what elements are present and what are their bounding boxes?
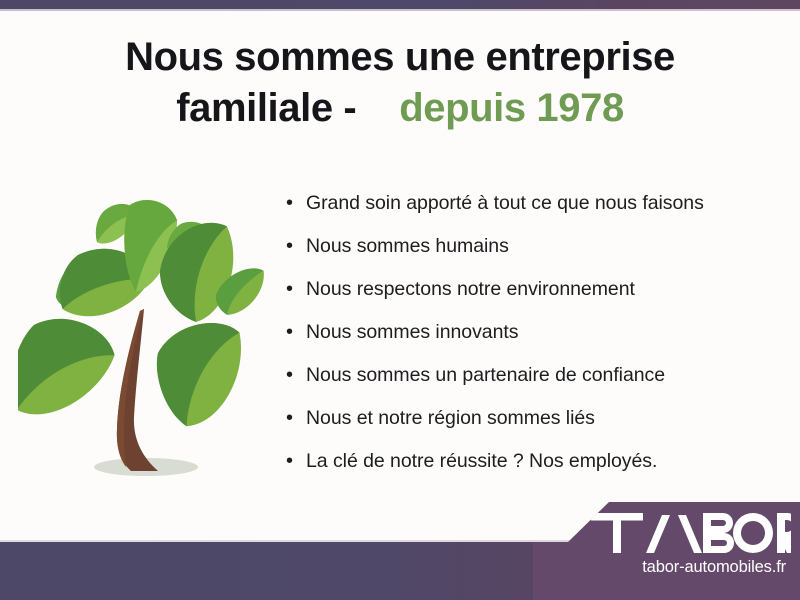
bullet-marker-icon: • xyxy=(286,405,306,431)
top-accent-hairline xyxy=(0,9,800,11)
tree-icon xyxy=(18,185,283,485)
logo-plate: tabor-automobiles.fr xyxy=(533,502,800,600)
bullet-marker-icon: • xyxy=(286,276,306,302)
list-item: • Nous respectons notre environnement xyxy=(286,276,776,319)
bullet-text: Nous sommes un partenaire de confiance xyxy=(306,362,665,388)
list-item: • Nous sommes un partenaire de confiance xyxy=(286,362,776,405)
list-item: • La clé de notre réussite ? Nos employé… xyxy=(286,448,776,491)
bullet-marker-icon: • xyxy=(286,233,306,259)
slide-canvas: Nous sommes une entreprise familiale - d… xyxy=(0,0,800,600)
logo-url-text: tabor-automobiles.fr xyxy=(533,558,800,577)
title-line-2: familiale - depuis 1978 xyxy=(0,87,800,129)
top-accent-strip xyxy=(0,0,800,9)
logo-inner: tabor-automobiles.fr xyxy=(533,502,800,600)
bullet-text: Nous sommes humains xyxy=(306,233,509,259)
bullet-text: La clé de notre réussite ? Nos employés. xyxy=(306,448,657,474)
bullet-text: Nous sommes innovants xyxy=(306,319,518,345)
list-item: • Nous sommes innovants xyxy=(286,319,776,362)
leaf-lower-left xyxy=(18,307,121,434)
bullet-text: Grand soin apporté à tout ce que nous fa… xyxy=(306,190,704,216)
bullet-text: Nous respectons notre environnement xyxy=(306,276,635,302)
bullet-marker-icon: • xyxy=(286,448,306,474)
bullet-text: Nous et notre région sommes liés xyxy=(306,405,595,431)
list-item: • Nous et notre région sommes liés xyxy=(286,405,776,448)
page-title: Nous sommes une entreprise familiale - d… xyxy=(0,36,800,130)
bullet-marker-icon: • xyxy=(286,319,306,345)
tree-illustration xyxy=(18,185,283,485)
tabor-logo-icon xyxy=(591,513,791,553)
bullet-marker-icon: • xyxy=(286,362,306,388)
bullet-list: • Grand soin apporté à tout ce que nous … xyxy=(286,190,776,491)
title-accent-since-1978: depuis 1978 xyxy=(399,86,624,130)
title-line-2-prefix: familiale - xyxy=(176,86,356,130)
leaf-lower-right xyxy=(148,315,259,431)
title-line-1: Nous sommes une entreprise xyxy=(0,36,800,78)
tabor-wordmark xyxy=(591,513,791,553)
list-item: • Grand soin apporté à tout ce que nous … xyxy=(286,190,776,233)
list-item: • Nous sommes humains xyxy=(286,233,776,276)
bullet-marker-icon: • xyxy=(286,190,306,216)
